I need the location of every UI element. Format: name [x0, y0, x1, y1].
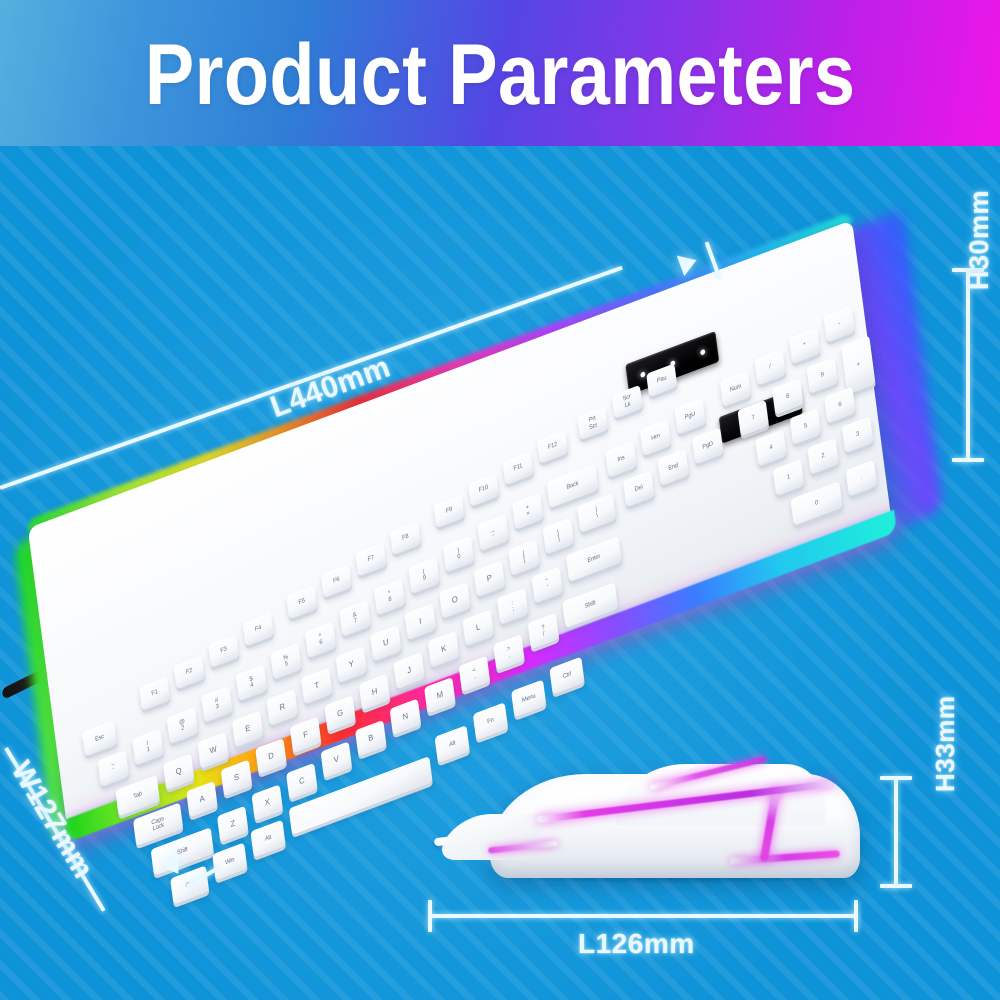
keyboard-key[interactable]: R: [266, 689, 298, 726]
keyboard-key[interactable]: E: [232, 710, 264, 747]
keyboard-height-dimension-line: [966, 270, 970, 462]
keyboard-key[interactable]: Hm: [640, 419, 672, 456]
keyboard-key[interactable]: D: [255, 738, 287, 775]
keyboard-key[interactable]: I: [405, 603, 437, 640]
mouse-illustration: [430, 762, 880, 892]
keyboard-key[interactable]: Menu: [511, 679, 546, 717]
keyboard-key[interactable]: F3: [208, 634, 239, 668]
keyboard-key[interactable]: ~ `: [98, 750, 130, 787]
keyboard-key[interactable]: K: [428, 631, 460, 668]
keyboard-key[interactable]: O: [439, 582, 471, 619]
keyboard-key[interactable]: 1: [773, 459, 805, 496]
mouse-height-dimension-line: [894, 778, 898, 888]
product-parameters-infographic: Product Parameters EscF1F2F3F4F5F6F7F8F9…: [0, 0, 1000, 1000]
keyboard-key[interactable]: F9: [433, 494, 464, 528]
keyboard-key[interactable]: " ': [531, 566, 563, 603]
keyboard-key[interactable]: Ins: [605, 441, 637, 478]
keyboard-key[interactable]: F5: [286, 586, 317, 620]
keyboard-key[interactable]: Win: [212, 842, 247, 880]
keyboard-key[interactable]: Fn: [473, 702, 508, 740]
keyboard-key[interactable]: F1: [139, 677, 170, 711]
keyboard-key[interactable]: ( 9: [408, 557, 440, 594]
mouse-length-dimension-line: [430, 914, 858, 918]
keyboard-key[interactable]: & 7: [339, 600, 371, 637]
keyboard-key[interactable]: U: [370, 625, 402, 662]
page-title: Product Parameters: [145, 32, 856, 118]
keyboard-key[interactable]: F10: [468, 473, 499, 507]
keyboard-key[interactable]: Scr Lk: [612, 385, 643, 419]
mouse-height-bottom-cap: [880, 884, 912, 888]
keyboard-key[interactable]: ) 0: [443, 536, 475, 573]
keyboard-key[interactable]: /: [754, 349, 786, 386]
keyboard-key[interactable]: PgU: [674, 398, 706, 435]
keyboard-key[interactable]: PgD: [692, 427, 724, 464]
mouse-height-top-cap: [880, 776, 912, 780]
keyboard-key[interactable]: F8: [390, 521, 421, 555]
keyboard-key[interactable]: # 3: [201, 686, 233, 723]
keyboard-key[interactable]: T: [301, 668, 333, 705]
keyboard-key[interactable]: Del: [623, 470, 655, 507]
keyboard-key[interactable]: 4: [755, 429, 787, 466]
keyboard-key[interactable]: Y: [335, 646, 367, 683]
keyboard-key[interactable]: ^ 6: [305, 621, 337, 658]
keyboard-key[interactable]: +: [841, 335, 876, 394]
keyboard-key[interactable]: V: [321, 741, 353, 778]
keyboard-key[interactable]: Esc: [82, 720, 117, 756]
keyboard-height-bottom-cap: [952, 458, 984, 462]
keyboard-key[interactable]: : ;: [497, 588, 529, 625]
keyboard-key[interactable]: Z: [217, 806, 249, 843]
keyboard-key[interactable]: J: [393, 652, 425, 689]
keyboard-key[interactable]: C: [286, 763, 318, 800]
mouse-length-label: L126mm: [578, 928, 695, 960]
keyboard-key[interactable]: 7: [737, 400, 769, 437]
keyboard-key[interactable]: Enter: [566, 536, 622, 582]
keyboard-key[interactable]: F12: [537, 430, 568, 464]
keyboard-key[interactable]: { [: [508, 539, 540, 576]
mouse-height-label: H33mm: [930, 696, 961, 792]
keyboard-key[interactable]: F11: [502, 451, 533, 485]
keyboard-key[interactable]: F7: [355, 543, 386, 577]
keyboard-height-label: H30mm: [964, 190, 995, 290]
keyboard-key[interactable]: 9: [806, 357, 838, 394]
keyboard-key[interactable]: F6: [321, 564, 352, 598]
scroll-lock-led-icon: [700, 348, 705, 355]
keyboard-key[interactable]: F2: [174, 655, 205, 689]
keyboard-key[interactable]: | \: [577, 493, 616, 533]
keyboard-key[interactable]: Alt: [435, 725, 470, 763]
keyboard-key[interactable]: *: [789, 327, 821, 364]
keyboard-key[interactable]: F4: [243, 613, 274, 647]
keyboard-key[interactable]: $ 4: [236, 664, 268, 701]
keyboard-key[interactable]: @ 2: [167, 707, 199, 744]
keyboard-key[interactable]: End: [657, 449, 689, 486]
keyboard-key[interactable]: X: [251, 784, 283, 821]
num-lock-led-icon: [640, 371, 645, 378]
keyboard-key[interactable]: Alt: [250, 820, 285, 858]
mouse-length-right-cap: [854, 900, 858, 932]
keyboard-key[interactable]: } ]: [543, 517, 575, 554]
keyboard-key[interactable]: * 8: [374, 578, 406, 615]
keyboard-key[interactable]: Num: [720, 370, 752, 407]
keyboard-key[interactable]: L: [462, 609, 494, 646]
keyboard-key[interactable]: _ -: [477, 514, 509, 551]
keyboard-key[interactable]: 6: [824, 387, 856, 424]
mouse-length-left-cap: [428, 900, 432, 932]
keyboard-key[interactable]: Ctrl: [549, 657, 584, 695]
keyboard-key[interactable]: < ,: [459, 656, 491, 693]
keyboard-key[interactable]: Prt Scr: [577, 406, 608, 440]
keyboard-key[interactable]: % 5: [270, 643, 302, 680]
keyboard-key[interactable]: 2: [807, 438, 839, 475]
keyboard-key[interactable]: + =: [512, 493, 544, 530]
keyboard-key[interactable]: ! 1: [132, 729, 164, 766]
keyboard-key[interactable]: P: [474, 560, 506, 597]
